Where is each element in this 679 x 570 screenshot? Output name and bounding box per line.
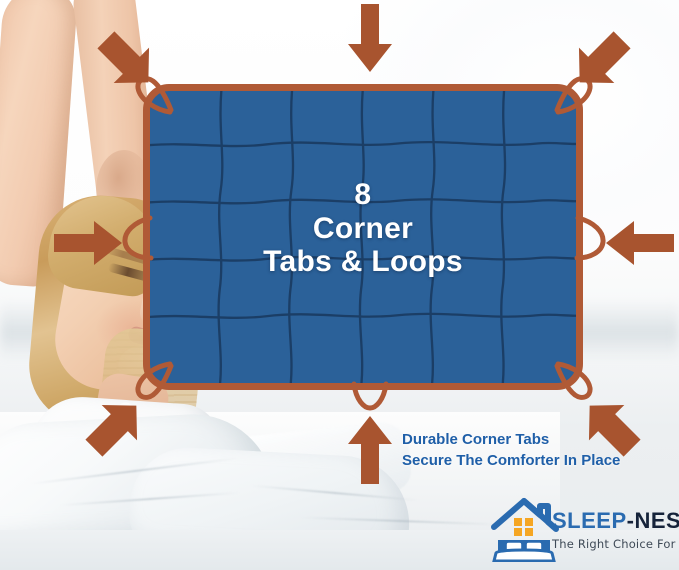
logo-brand-name: SLEEP-NEST <box>552 510 679 532</box>
arrow-top-right <box>562 22 644 96</box>
caption-text: Durable Corner Tabs Secure The Comforter… <box>402 429 620 472</box>
logo-brand-secondary: -NEST <box>627 508 679 533</box>
loop-bottom-center <box>348 382 392 412</box>
brand-logo: SLEEP-NEST The Right Choice For You <box>490 496 676 564</box>
arrow-right-middle <box>604 218 676 268</box>
comforter-illustration <box>143 84 583 390</box>
arrow-top-left <box>84 22 166 96</box>
logo-wordmark: SLEEP-NEST The Right Choice For You <box>552 510 679 551</box>
infographic-canvas: 8 Corner Tabs & Loops Durable Corner Tab… <box>0 0 679 570</box>
arrow-bottom-center <box>345 414 395 486</box>
quilt-stitch-grid <box>150 91 576 383</box>
arrow-left-middle <box>52 218 124 268</box>
logo-tagline: The Right Choice For You <box>552 537 679 551</box>
arrow-bottom-left <box>72 392 154 466</box>
loop-right-middle <box>572 212 606 264</box>
arrow-top-center <box>345 2 395 74</box>
caption-line-2: Secure The Comforter In Place <box>402 450 620 471</box>
loop-left-middle <box>122 212 156 264</box>
caption-line-1: Durable Corner Tabs <box>402 429 620 450</box>
logo-brand-primary: SLEEP <box>552 508 627 533</box>
